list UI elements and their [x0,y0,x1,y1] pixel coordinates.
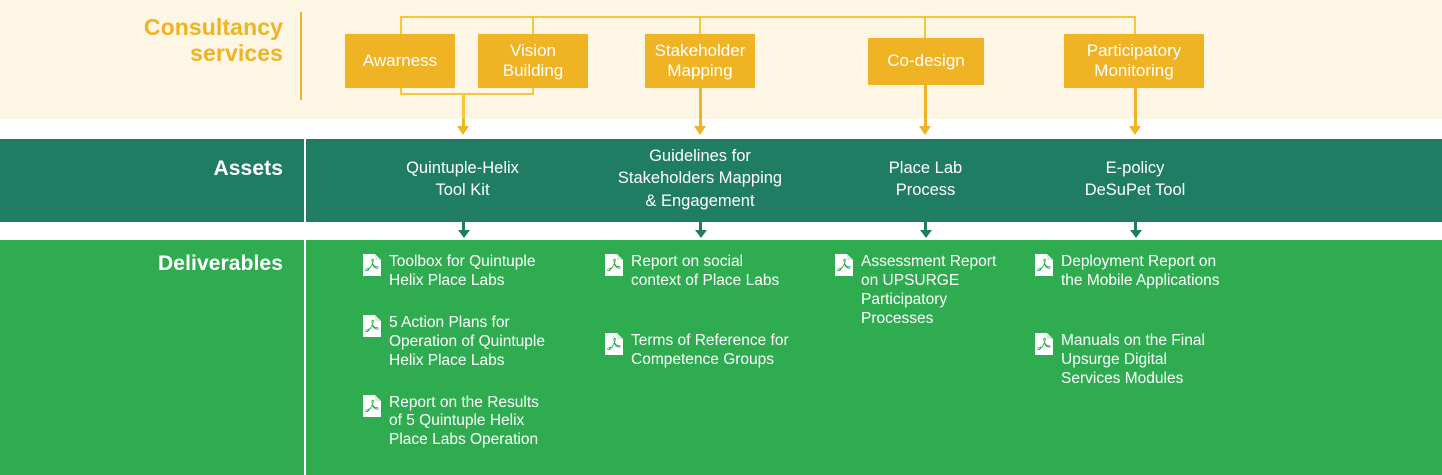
list-item-label: Terms of Reference for Competence Groups [631,331,789,370]
connector-drop-stakeholder-mapping [699,16,701,36]
pdf-icon [604,253,624,277]
connector-stem-participatory-monitoring [1134,88,1137,119]
pdf-icon [604,332,624,356]
consultancy-services-row-label: Consultancy services [0,14,283,67]
connector-stem-co-design [924,85,927,119]
list-item[interactable]: Terms of Reference for Competence Groups [604,331,819,370]
service-box-label: Participatory Monitoring [1087,41,1181,82]
asset-label: E-policy DeSuPet Tool [1085,159,1186,199]
list-item[interactable]: Report on the Results of 5 Quintuple Hel… [362,393,577,451]
list-item[interactable]: Assessment Report on UPSURGE Participato… [834,252,1024,329]
list-item-label: Assessment Report on UPSURGE Participato… [861,252,996,329]
asset-quintuple-helix-tool-kit[interactable]: Quintuple-Helix Tool Kit [355,157,570,202]
list-item-label: Deployment Report on the Mobile Applicat… [1061,252,1220,291]
list-item[interactable]: Toolbox for Quintuple Helix Place Labs [362,252,577,291]
deliverables-column-2: Report on social context of Place Labs T… [604,252,819,384]
assets-row-divider [304,139,306,222]
connector-gap-stem-1 [462,119,465,128]
list-item-label: Report on the Results of 5 Quintuple Hel… [389,393,539,451]
list-item-label: Toolbox for Quintuple Helix Place Labs [389,252,535,291]
pdf-icon [834,253,854,277]
connector-stem-stakeholder-mapping [699,88,702,119]
asset-label: Guidelines for Stakeholders Mapping & En… [618,147,782,210]
list-item[interactable]: Deployment Report on the Mobile Applicat… [1034,252,1264,291]
assets-band: Assets Quintuple-Helix Tool Kit Guidelin… [0,139,1442,222]
consultancy-row-divider [300,12,302,100]
arrow-teal-to-deliverables-4 [1130,230,1142,238]
deliverables-column-3: Assessment Report on UPSURGE Participato… [834,252,1024,343]
service-box-label: Vision Building [503,41,564,82]
service-box-label: Awarness [363,51,437,71]
deliverables-column-1: Toolbox for Quintuple Helix Place Labs 5… [362,252,577,464]
asset-label: Quintuple-Helix Tool Kit [406,159,519,199]
list-item-label: 5 Action Plans for Operation of Quintupl… [389,313,545,371]
deliverables-band: Deliverables Toolbox for Quintuple Helix… [0,240,1442,475]
service-box-co-design[interactable]: Co-design [868,38,984,85]
service-box-awarness[interactable]: Awarness [345,34,455,88]
list-item[interactable]: Report on social context of Place Labs [604,252,819,291]
arrow-teal-to-deliverables-2 [695,230,707,238]
arrow-teal-to-deliverables-3 [920,230,932,238]
assets-row-label: Assets [0,157,283,181]
service-box-label: Stakeholder Mapping [655,41,746,82]
consultancy-services-band: Consultancy services Awarness Vision Bui… [0,0,1442,119]
asset-e-policy-desupet-tool[interactable]: E-policy DeSuPet Tool [1040,157,1230,202]
arrow-teal-to-deliverables-1 [458,230,470,238]
pdf-icon [362,394,382,418]
pdf-icon [362,253,382,277]
service-box-label: Co-design [887,51,965,71]
deliverables-column-4: Deployment Report on the Mobile Applicat… [1034,252,1264,403]
list-item[interactable]: Manuals on the Final Upsurge Digital Ser… [1034,331,1264,389]
connector-bracket-stem [462,93,465,119]
connector-bus-horizontal [400,16,1136,18]
service-box-participatory-monitoring[interactable]: Participatory Monitoring [1064,34,1204,88]
connector-gap-stem-2 [699,119,702,128]
deliverables-row-label: Deliverables [0,252,283,276]
pdf-icon [1034,253,1054,277]
asset-label: Place Lab Process [889,159,962,199]
asset-place-lab-process[interactable]: Place Lab Process [838,157,1013,202]
service-box-vision-building[interactable]: Vision Building [478,34,588,88]
connector-drop-participatory-monitoring [1134,16,1136,36]
connector-gap-stem-4 [1134,119,1137,128]
connector-bracket-bottom [400,93,534,95]
service-box-stakeholder-mapping[interactable]: Stakeholder Mapping [645,34,755,88]
deliverables-row-divider [304,240,306,475]
connector-drop-co-design [924,16,926,40]
list-item-label: Report on social context of Place Labs [631,252,779,291]
pdf-icon [1034,332,1054,356]
pdf-icon [362,314,382,338]
asset-guidelines-stakeholders-mapping[interactable]: Guidelines for Stakeholders Mapping & En… [580,145,820,212]
list-item[interactable]: 5 Action Plans for Operation of Quintupl… [362,313,577,371]
list-item-label: Manuals on the Final Upsurge Digital Ser… [1061,331,1205,389]
connector-gap-stem-3 [924,119,927,128]
